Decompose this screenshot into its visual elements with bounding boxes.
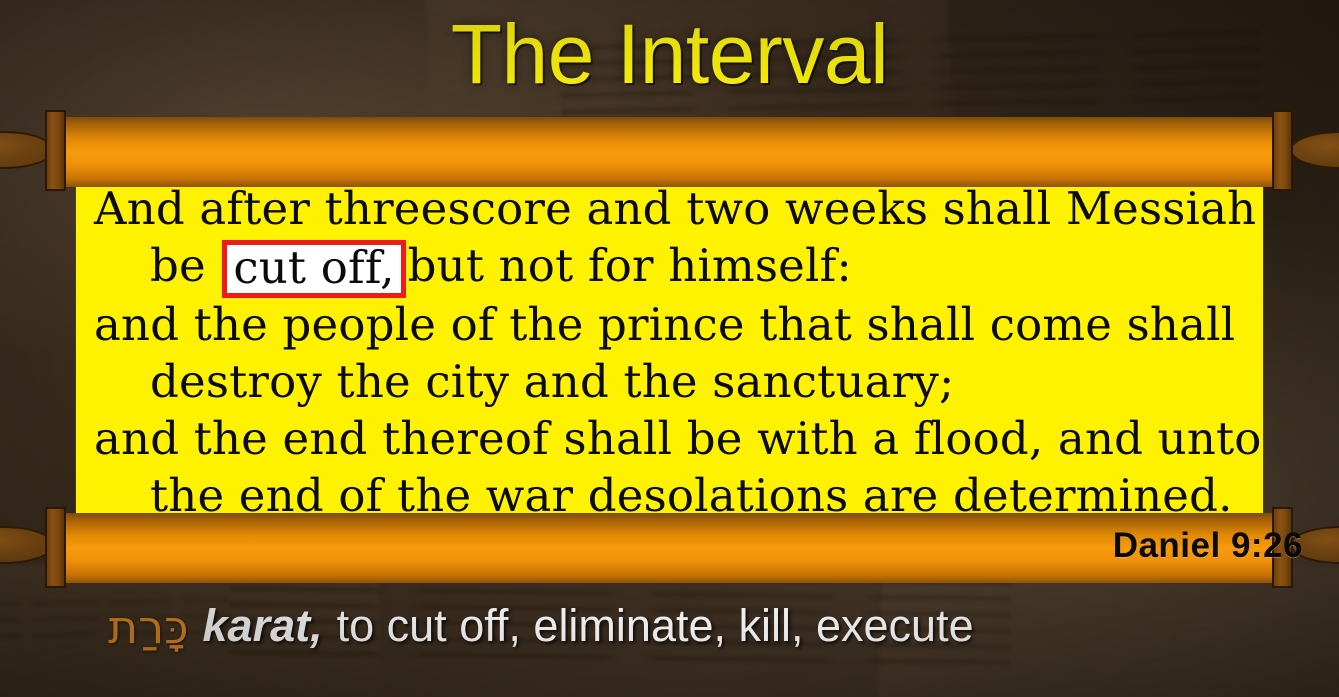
hebrew-word-karat: כָּרַת bbox=[108, 604, 189, 650]
scroll-rod-cap-bottom-left bbox=[45, 507, 66, 588]
scroll-rod-cap-top-left bbox=[45, 110, 66, 191]
slide-title: The Interval bbox=[0, 6, 1339, 102]
verse-line-2: be cut off,but not for himself: bbox=[94, 237, 1249, 296]
verse-line-5: and the end thereof shall be with a floo… bbox=[94, 410, 1249, 467]
verse-line-1-text: And after threescore and two weeks shall… bbox=[94, 182, 1256, 235]
scripture-text: And after threescore and two weeks shall… bbox=[94, 180, 1249, 524]
slide-canvas: The Interval And after threescore and tw… bbox=[0, 0, 1339, 697]
scroll-roller-bottom bbox=[62, 513, 1277, 583]
definition-text: to cut off, eliminate, kill, execute bbox=[337, 600, 974, 652]
verse-line-1: And after threescore and two weeks shall… bbox=[94, 180, 1249, 237]
transliteration-karat: karat, bbox=[203, 600, 323, 652]
scripture-citation: Daniel 9:26 bbox=[1113, 526, 1303, 566]
verse-line-4-text: destroy the city and the sanctuary; bbox=[150, 355, 954, 408]
highlighted-phrase-cut-off: cut off, bbox=[222, 240, 405, 298]
scroll-knob-top-right bbox=[1290, 131, 1339, 169]
hebrew-gloss-line: כָּרַת karat, to cut off, eliminate, kil… bbox=[108, 600, 974, 652]
scroll-parchment-sheet: And after threescore and two weeks shall… bbox=[76, 174, 1263, 518]
verse-line-2-suffix: but not for himself: bbox=[408, 239, 852, 292]
verse-line-3: and the people of the prince that shall … bbox=[94, 296, 1249, 353]
scroll-rod-cap-top-right bbox=[1272, 110, 1293, 191]
verse-line-2-prefix: be bbox=[150, 239, 220, 292]
verse-line-5-text: and the end thereof shall be with a floo… bbox=[94, 412, 1262, 465]
verse-line-3-text: and the people of the prince that shall … bbox=[94, 298, 1235, 351]
scroll-roller-top bbox=[62, 117, 1277, 187]
scroll-graphic: And after threescore and two weeks shall… bbox=[0, 103, 1339, 590]
verse-line-4: destroy the city and the sanctuary; bbox=[94, 353, 1249, 410]
